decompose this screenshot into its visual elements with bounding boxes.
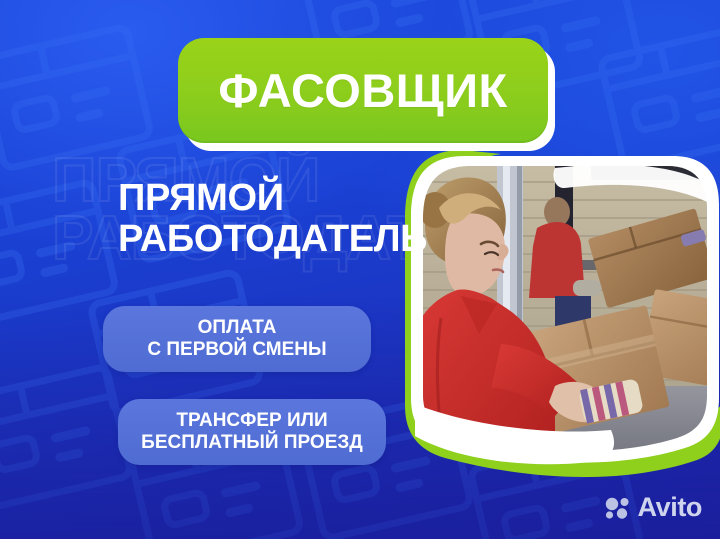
- avito-wordmark: Avito: [638, 492, 703, 523]
- page-title: ПРЯМОЙ РАБОТОДАТЕЛЬ: [118, 178, 427, 260]
- avito-dots-icon: [605, 497, 631, 519]
- worker-photo-card: [405, 148, 720, 478]
- feature-pill-transfer: ТРАНСФЕР ИЛИ БЕСПЛАТНЫЙ ПРОЕЗД: [118, 399, 386, 465]
- job-title-badge: ФАСОВЩИК: [178, 38, 548, 143]
- badge-green-panel: ФАСОВЩИК: [178, 38, 548, 143]
- avito-logo: Avito: [605, 492, 703, 523]
- job-ad-banner: ПРЯМОЙ РАБОТОДАТЕЛЬ: [0, 0, 720, 539]
- badge-title-text: ФАСОВЩИК: [218, 67, 507, 114]
- feature-pill-payment: ОПЛАТА С ПЕРВОЙ СМЕНЫ: [103, 306, 371, 372]
